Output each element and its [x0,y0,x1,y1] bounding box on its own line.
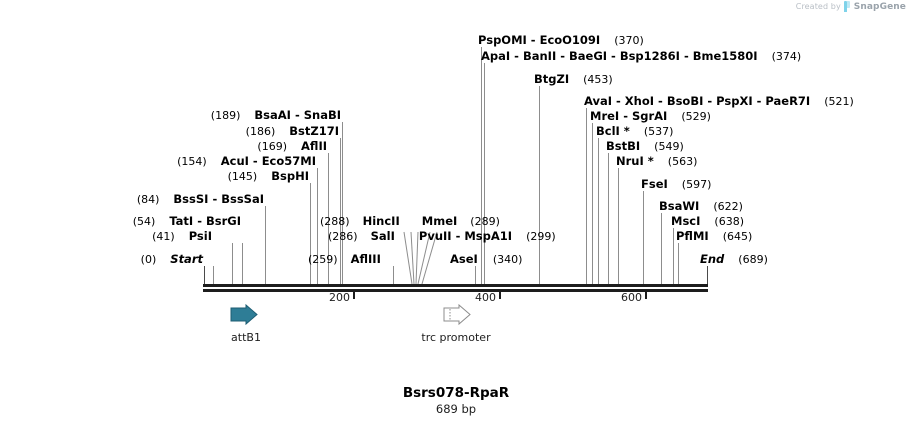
enzyme-label-hincii[interactable]: (288) HincII MmeI (289) [320,215,500,228]
enzyme-names-btgzi: BtgZI [534,72,569,86]
ruler-tick-200 [353,292,355,299]
leader-line-pflmi [678,243,679,284]
enzyme-pos-apai: (374) [772,50,802,63]
enzyme-label-msci[interactable]: MscI (638) [671,215,744,228]
enzyme-label-afliii[interactable]: (259) AflIII [308,253,381,266]
enzyme-names-bsssi: BssSI - BssSaI [173,192,264,206]
enzyme-names-sali: SalI [371,229,395,243]
enzyme-names-bsphi: BspHI [271,169,309,183]
enzyme-names-nrui: NruI * [616,154,654,168]
feature-label-trc-promoter: trc promoter [421,331,490,344]
enzyme-pos-asei: (340) [493,253,523,266]
enzyme-names-tati: TatI - BsrGI [169,214,241,228]
leader-line-bsrgi [242,243,243,284]
enzyme-pos-acui: (154) [177,155,207,168]
enzyme-names-msci: MscI [671,214,700,228]
leader-line-fsei [643,191,644,284]
leader-line-avai [586,108,587,284]
start-text: Start [170,252,203,266]
enzyme-pos-fsei: (597) [682,178,712,191]
enzyme-label-bstz17i[interactable]: (186) BstZ17I [246,125,339,138]
enzyme-pos-bsssi: (84) [137,193,160,206]
enzyme-pos-tati: (54) [133,215,156,228]
leader-line-apai [484,63,485,284]
leader-line-afliii [393,266,394,284]
enzyme-names-asei: AseI [450,252,478,266]
sequence-start-label: (0) Start [141,253,203,266]
page-subtitle: 689 bp [0,402,912,416]
enzyme-label-sali[interactable]: (286) SalI PvuII - MspA1I (299) [328,230,556,243]
ruler-label-400: 400 [475,291,496,304]
enzyme-label-pspomi[interactable]: PspOMI - EcoO109I (370) [478,34,644,47]
leader-line-mrei [592,123,593,284]
leader-line-end [707,266,708,284]
enzyme-label-bsawi[interactable]: BsaWI (622) [659,200,743,213]
end-text: End [700,252,724,266]
page-title: Bsrs078-RpaR [0,385,912,401]
enzyme-pos-mmei: (289) [470,215,500,228]
enzyme-pos-bsphi: (145) [228,170,258,183]
ruler-tick-600 [645,292,647,299]
enzyme-label-tati[interactable]: (54) TatI - BsrGI [133,215,241,228]
sequence-backbone-top[interactable] [203,284,708,287]
enzyme-names-bsawi: BsaWI [659,199,699,213]
enzyme-pos-mrei: (529) [681,110,711,123]
enzyme-names-afliii: AflIII [351,252,381,266]
enzyme-names-acui: AcuI - Eco57MI [221,154,316,168]
enzyme-names-fsei: FseI [641,177,668,191]
enzyme-names-bstbi: BstBI [606,139,640,153]
enzyme-pos-bsaai: (189) [211,109,241,122]
enzyme-pos-sali: (286) [328,230,358,243]
enzyme-names-pvuii: PvuII - MspA1I [419,229,512,243]
enzyme-label-psii[interactable]: (41) PsiI [152,230,212,243]
leader-line-acui [317,168,318,284]
enzyme-label-acui[interactable]: (154) AcuI - Eco57MI [177,155,316,168]
enzyme-pos-pvuii: (299) [526,230,556,243]
enzyme-pos-pspomi: (370) [614,34,644,47]
leader-line-tati [232,243,233,284]
enzyme-label-btgzi[interactable]: BtgZI (453) [534,73,613,86]
enzyme-names-bsaai: BsaAI - SnaBI [254,108,341,122]
leader-line-bstbi [608,153,609,284]
leader-line-nrui [618,168,619,284]
enzyme-label-apai[interactable]: ApaI - BanII - BaeGI - Bsp1286I - Bme158… [481,50,801,63]
sequence-end-label: End (689) [700,253,768,266]
ruler-label-200: 200 [329,291,350,304]
leader-line-start [204,266,205,284]
ruler-tick-400 [499,292,501,299]
enzyme-pos-nrui: (563) [668,155,698,168]
feature-arrow-attb1[interactable] [230,304,270,328]
enzyme-pos-bcli: (537) [644,125,674,138]
enzyme-pos-aflii: (169) [257,140,287,153]
enzyme-label-bsssi[interactable]: (84) BssSI - BssSaI [137,193,264,206]
leader-line-btgzi [539,86,540,284]
enzyme-names-hincii: HincII [363,214,400,228]
snapgene-watermark: Created by SnapGene [796,1,906,12]
leader-line-asei [475,266,476,284]
enzyme-label-bstbi[interactable]: BstBI (549) [606,140,684,153]
start-position: (0) [141,253,157,266]
leader-line-pspomi [481,47,482,284]
enzyme-label-pflmi[interactable]: PflMI (645) [676,230,752,243]
leader-line-bsssi [265,206,266,284]
leader-line-psii [213,266,214,284]
snapgene-logo-icon [844,1,851,12]
enzyme-pos-bsawi: (622) [713,200,743,213]
enzyme-pos-bstbi: (549) [654,140,684,153]
enzyme-pos-afliii: (259) [308,253,338,266]
watermark-brand: SnapGene [854,2,906,12]
leader-line-bsphi [310,183,311,284]
enzyme-pos-bstz17i: (186) [246,125,276,138]
enzyme-names-mrei: MreI - SgrAI [590,109,667,123]
end-position: (689) [738,253,768,266]
enzyme-label-avai[interactable]: AvaI - XhoI - BsoBI - PspXI - PaeR7I (52… [584,95,854,108]
feature-label-attb1: attB1 [231,331,261,344]
leader-line-bcli [598,138,599,284]
enzyme-names-bstz17i: BstZ17I [289,124,339,138]
enzyme-names-bcli: BclI * [596,124,630,138]
ruler-label-600: 600 [621,291,642,304]
enzyme-pos-avai: (521) [824,95,854,108]
enzyme-label-mrei[interactable]: MreI - SgrAI (529) [590,110,711,123]
enzyme-pos-pflmi: (645) [723,230,753,243]
enzyme-pos-btgzi: (453) [583,73,613,86]
leader-line-bsawi [661,213,662,284]
slanted-leader-lines [0,0,912,423]
enzyme-names-pflmi: PflMI [676,229,709,243]
enzyme-label-bsaai[interactable]: (189) BsaAI - SnaBI [211,109,341,122]
enzyme-names-aflii: AflII [301,139,327,153]
enzyme-label-bcli[interactable]: BclI * (537) [596,125,673,138]
enzyme-pos-hincii: (288) [320,215,350,228]
enzyme-label-bsphi[interactable]: (145) BspHI [228,170,309,183]
enzyme-label-aflii[interactable]: (169) AflII [257,140,327,153]
enzyme-names-pspomi: PspOMI - EcoO109I [478,33,600,47]
enzyme-names-psii: PsiI [189,229,212,243]
enzyme-label-asei[interactable]: AseI (340) [450,253,522,266]
enzyme-pos-psii: (41) [152,230,175,243]
leader-line-msci [673,228,674,284]
enzyme-names-apai: ApaI - BanII - BaeGI - Bsp1286I - Bme158… [481,49,758,63]
watermark-prefix: Created by [796,2,841,11]
sequence-map-canvas: Created by SnapGene PspOMI [0,0,912,423]
enzyme-names-mmei: MmeI [422,214,458,228]
feature-arrow-trc-promoter[interactable] [443,304,483,328]
enzyme-label-nrui[interactable]: NruI * (563) [616,155,697,168]
enzyme-label-fsei[interactable]: FseI (597) [641,178,711,191]
enzyme-names-avai: AvaI - XhoI - BsoBI - PspXI - PaeR7I [584,94,810,108]
enzyme-pos-msci: (638) [714,215,744,228]
